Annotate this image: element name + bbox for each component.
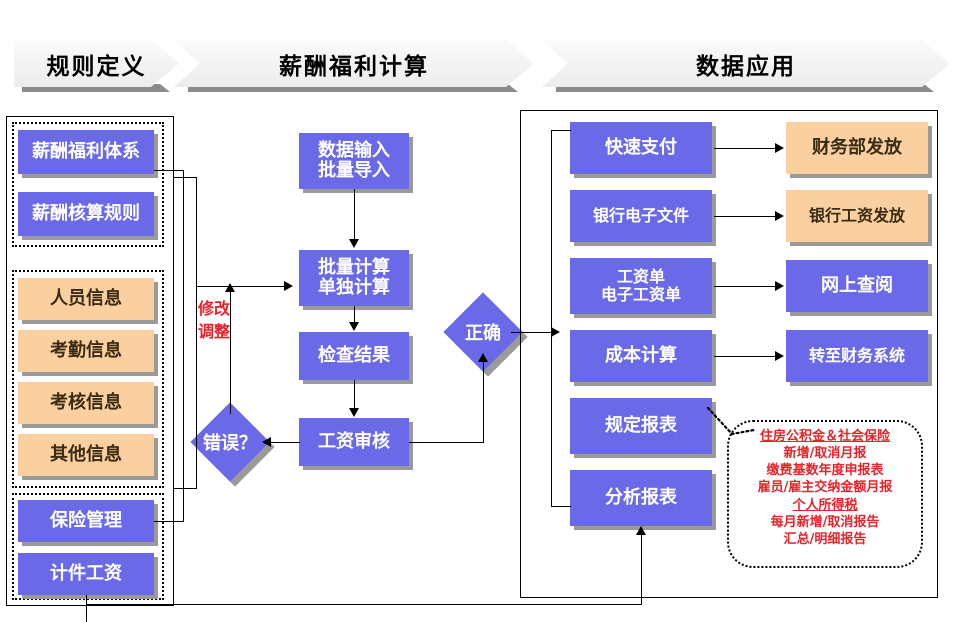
arrow-error-loop-up — [225, 283, 235, 292]
node-label: 考核信息 — [50, 393, 122, 413]
callout-line: 雇员/雇主交纳金额月报 — [729, 479, 921, 496]
connector-into-batch-calc — [196, 286, 284, 287]
node-label: 薪酬福利体系 — [32, 142, 140, 162]
node-label: 计件工资 — [50, 564, 122, 584]
arrow-fast-payment-to-finance — [775, 143, 784, 153]
node-label: 工资审核 — [318, 432, 390, 452]
arrow-bank-file-to-bank-salary — [775, 211, 784, 221]
distribution-bus-vertical — [551, 130, 552, 506]
arrow-correct-to-bus — [551, 327, 560, 337]
node-online-inquiry[interactable]: 网上查阅 — [786, 260, 928, 312]
phase-banner-label: 规则定义 — [47, 47, 147, 81]
node-label: 规定报表 — [605, 416, 677, 436]
bottom-feedback-from-piece-rate — [86, 595, 87, 622]
node-analysis-report[interactable]: 分析报表 — [570, 470, 712, 526]
node-data-entry-batch-import[interactable]: 数据输入 批量导入 — [299, 133, 409, 189]
callout-line: 个人所得税 — [729, 497, 921, 514]
connector-audit-to-correct-v — [483, 362, 484, 443]
node-assessment-info[interactable]: 考核信息 — [18, 382, 154, 424]
connector-batch-to-check — [354, 306, 355, 323]
callout-leader — [706, 404, 766, 454]
node-label: 快速支付 — [605, 138, 677, 158]
arrow-batch-to-check — [349, 322, 359, 331]
callout-line: 缴费基数年度申报表 — [729, 462, 921, 479]
node-check-result[interactable]: 检查结果 — [299, 332, 409, 380]
decision-error[interactable]: 错误？ — [202, 414, 258, 470]
node-comp-benefit-system[interactable]: 薪酬福利体系 — [18, 130, 154, 174]
bus-branch-fast-payment — [551, 130, 571, 131]
flowchart-canvas: 规则定义 薪酬福利计算 数据应用 薪酬福利体系 薪酬核算规则 人员信息 考勤信息… — [0, 0, 953, 622]
decision-label: 正确 — [435, 304, 531, 360]
node-statutory-report[interactable]: 规定报表 — [570, 398, 712, 454]
connector-data-feeder-top — [174, 177, 197, 178]
node-label: 财务部发放 — [812, 138, 902, 158]
phase-banner-label: 薪酬福利计算 — [279, 47, 429, 81]
arrow-entry-to-batch — [349, 239, 359, 248]
node-label: 银行电子文件 — [593, 207, 689, 225]
node-payslip-electronic-payslip[interactable]: 工资单 电子工资单 — [570, 258, 712, 314]
arrow-bottom-feedback-to-analysis — [636, 526, 646, 535]
node-fast-payment[interactable]: 快速支付 — [570, 122, 712, 174]
node-payroll-audit[interactable]: 工资审核 — [299, 418, 409, 466]
connector-bank-file-to-bank-salary — [714, 216, 776, 217]
connector-check-to-audit — [354, 380, 355, 409]
node-label: 成本计算 — [605, 346, 677, 366]
connector-rules-stub — [154, 170, 183, 171]
decision-correct[interactable]: 正确 — [455, 304, 511, 360]
node-bank-salary-disbursement[interactable]: 银行工资发放 — [786, 190, 928, 242]
connector-error-loop-vertical — [230, 292, 231, 414]
node-label: 人员信息 — [50, 289, 122, 309]
phase-banner-label: 数据应用 — [696, 47, 796, 81]
arrow-check-to-audit — [349, 408, 359, 417]
node-label: 银行工资发放 — [809, 207, 905, 225]
connector-fast-payment-to-finance — [714, 148, 776, 149]
phase-banner-data-application: 数据应用 — [542, 40, 950, 87]
phase-banner-rule-definition: 规则定义 — [14, 40, 179, 87]
node-label: 转至财务系统 — [809, 347, 905, 365]
arrow-cost-to-finance-system — [775, 351, 784, 361]
phase-banner-payroll-benefit-calculation: 薪酬福利计算 — [174, 40, 534, 87]
connector-insurance-stub — [154, 521, 183, 522]
callout-line: 每月新增/取消报告 — [729, 514, 921, 531]
node-personnel-info[interactable]: 人员信息 — [18, 278, 154, 320]
node-cost-calculation[interactable]: 成本计算 — [570, 330, 712, 382]
callout-line: 汇总/明细报告 — [729, 531, 921, 548]
node-insurance-management[interactable]: 保险管理 — [18, 500, 154, 542]
node-label: 薪酬核算规则 — [32, 204, 140, 224]
node-comp-accounting-rules[interactable]: 薪酬核算规则 — [18, 192, 154, 236]
node-other-info[interactable]: 其他信息 — [18, 434, 154, 476]
connector-payslip-to-online-inquiry — [714, 286, 776, 287]
connector-data-feeder-bottom — [174, 488, 197, 489]
node-attendance-info[interactable]: 考勤信息 — [18, 330, 154, 372]
arrow-payslip-to-online-inquiry — [775, 281, 784, 291]
connector-audit-to-correct-h — [409, 442, 483, 443]
bottom-feedback-up-to-analysis — [641, 535, 642, 605]
connector-entry-to-batch — [354, 189, 355, 239]
node-label: 分析报表 — [605, 488, 677, 508]
decision-label: 错误？ — [182, 414, 278, 470]
node-label: 保险管理 — [50, 511, 122, 531]
node-label: 数据输入 批量导入 — [318, 141, 390, 181]
node-finance-dept-disbursement[interactable]: 财务部发放 — [786, 122, 928, 174]
node-label: 检查结果 — [318, 346, 390, 366]
bus-branch-analysis-report — [551, 506, 571, 507]
node-label: 其他信息 — [50, 445, 122, 465]
node-piece-rate-wage[interactable]: 计件工资 — [18, 553, 154, 595]
bottom-feedback-horizontal — [86, 604, 642, 605]
arrow-into-batch-calc — [284, 281, 293, 291]
node-label: 网上查阅 — [821, 276, 893, 296]
node-label: 批量计算 单独计算 — [318, 258, 390, 298]
node-label: 考勤信息 — [50, 341, 122, 361]
node-batch-single-calculation[interactable]: 批量计算 单独计算 — [299, 250, 409, 306]
node-label: 工资单 电子工资单 — [601, 268, 681, 304]
connector-cost-to-finance-system — [714, 356, 776, 357]
node-bank-electronic-file[interactable]: 银行电子文件 — [570, 190, 712, 242]
node-transfer-to-finance-system[interactable]: 转至财务系统 — [786, 330, 928, 382]
